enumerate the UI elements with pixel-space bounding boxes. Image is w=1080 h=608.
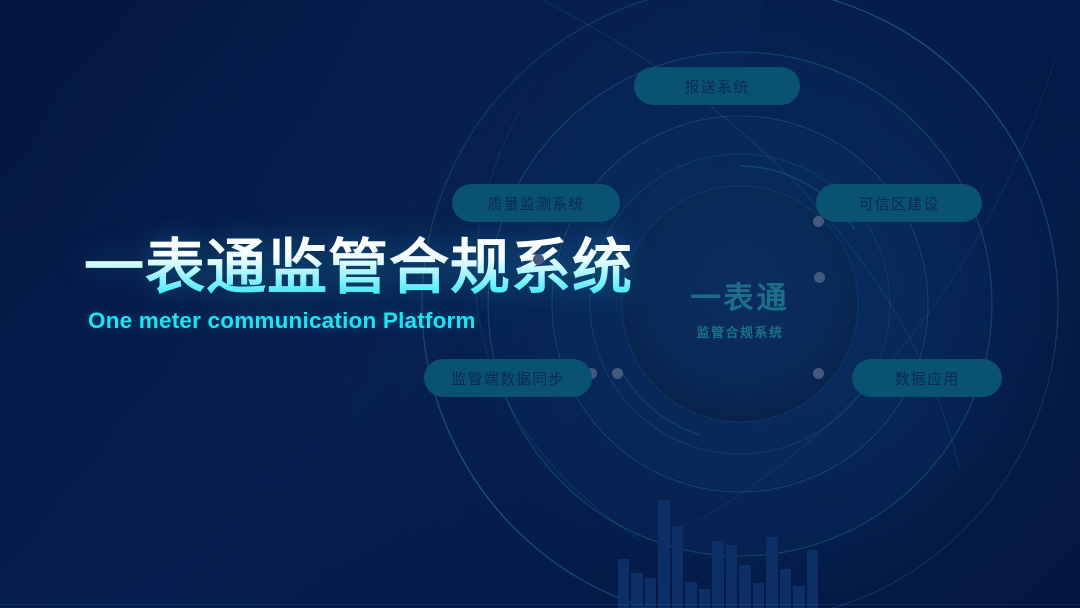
- bar: [780, 569, 791, 608]
- node-pill-jianguan[interactable]: 监管端数据同步: [424, 359, 592, 397]
- node-pill-zhiliang[interactable]: 质量监测系统: [452, 184, 620, 222]
- node-pill-label: 监管端数据同步: [451, 368, 564, 389]
- headline-block: 一表通监管合规系统 One meter communication Platfo…: [84, 236, 684, 334]
- node-pill-kexinqu[interactable]: 可信区建设: [816, 184, 982, 222]
- bar: [807, 550, 818, 608]
- bar: [699, 589, 710, 608]
- bar: [618, 559, 629, 608]
- node-pill-baosong[interactable]: 报送系统: [634, 67, 800, 105]
- slide-canvas: 一表通监管合规系统 One meter communication Platfo…: [0, 0, 1080, 608]
- bar: [658, 500, 669, 608]
- bar: [712, 541, 723, 608]
- connector-dot-shuju: [813, 368, 824, 379]
- node-pill-label: 可信区建设: [858, 193, 939, 214]
- bar: [726, 545, 737, 608]
- node-pill-shuju[interactable]: 数据应用: [852, 359, 1002, 397]
- connector-dot-jianguan-2: [612, 368, 623, 379]
- bar: [672, 526, 683, 608]
- bar: [766, 537, 777, 608]
- node-pill-label: 质量监测系统: [487, 193, 584, 214]
- connector-dot-orbit-right: [814, 272, 825, 283]
- bar: [631, 573, 642, 608]
- baseline-rule: [0, 604, 1080, 605]
- node-pill-label: 数据应用: [895, 368, 960, 389]
- background-bar-chart: [618, 500, 818, 608]
- page-title: 一表通监管合规系统: [84, 236, 684, 300]
- bar: [739, 565, 750, 608]
- page-subtitle: One meter communication Platform: [88, 308, 684, 334]
- connector-dot-orbit-left: [533, 254, 544, 265]
- node-pill-label: 报送系统: [685, 76, 750, 97]
